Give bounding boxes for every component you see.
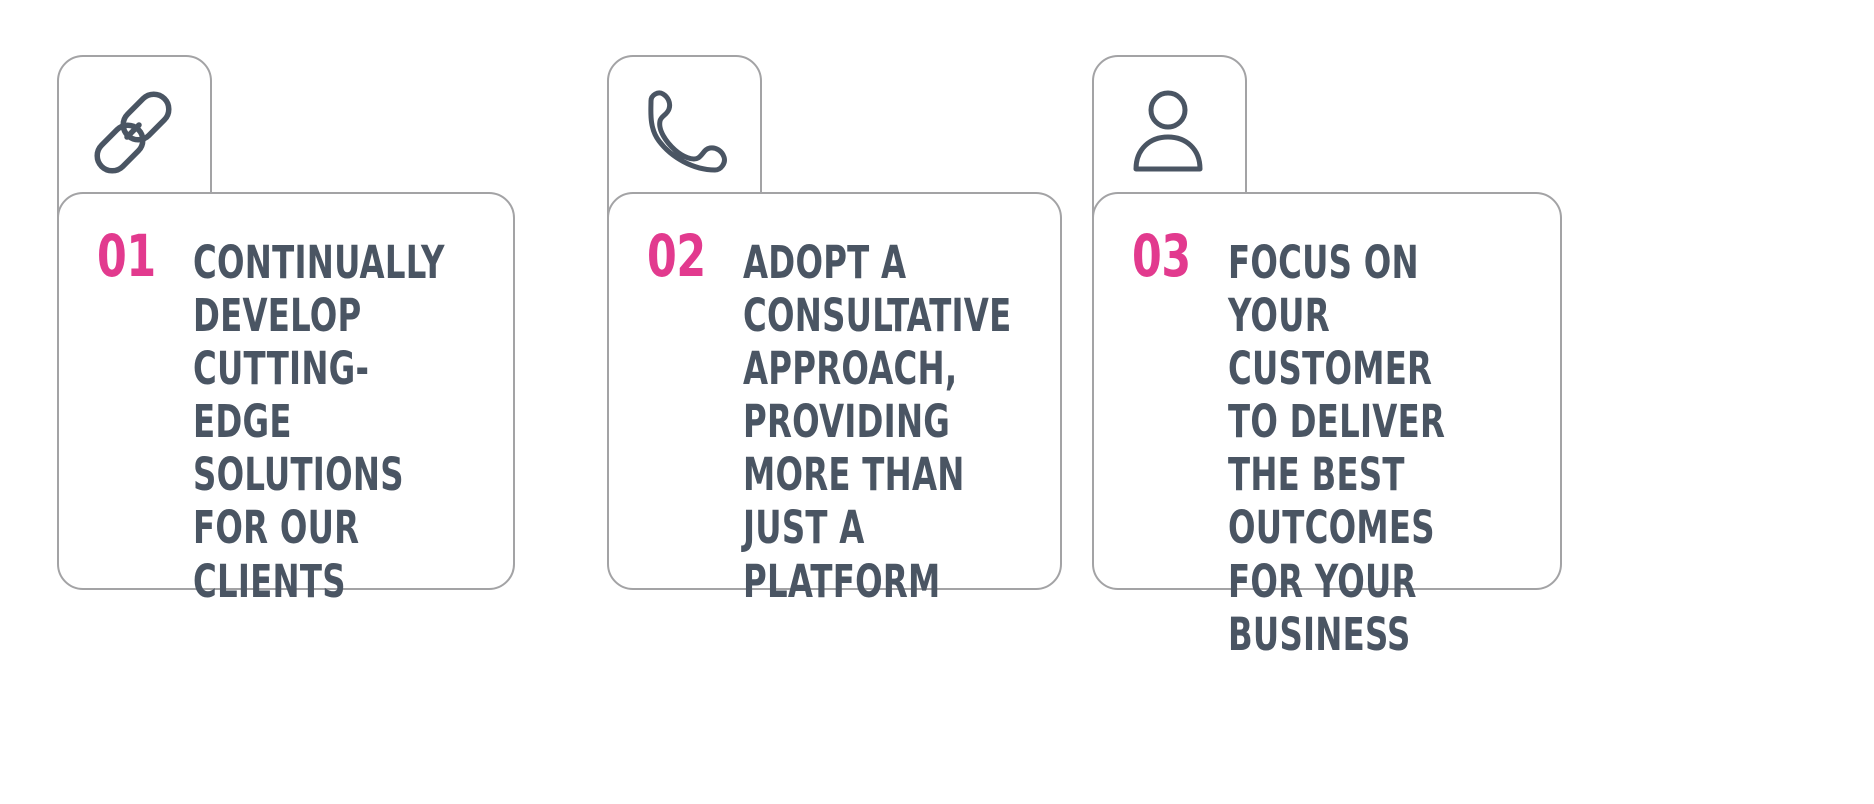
step-headline-1: Continually develop cutting-edge solutio… <box>193 236 445 608</box>
phone-handset-icon <box>633 85 733 180</box>
card-group-1: 01 Continually develop cutting-edge solu… <box>0 0 560 804</box>
step-number-2: 02 <box>647 232 711 281</box>
card-content-row: 02 Adopt a consultative approach, provid… <box>647 230 1030 608</box>
step-number-1: 01 <box>97 232 161 281</box>
step-headline-3: Focus on your customer to deliver the be… <box>1228 236 1470 661</box>
three-step-infographic: 01 Continually develop cutting-edge solu… <box>0 0 1874 804</box>
step-card-3[interactable]: 03 Focus on your customer to deliver the… <box>1092 192 1562 590</box>
link-chain-icon <box>83 85 183 180</box>
person-user-icon <box>1118 85 1218 180</box>
step-card-2[interactable]: 02 Adopt a consultative approach, provid… <box>607 192 1062 590</box>
step-number-3: 03 <box>1132 232 1196 281</box>
step-card-1[interactable]: 01 Continually develop cutting-edge solu… <box>57 192 515 590</box>
card-group-2: 02 Adopt a consultative approach, provid… <box>550 0 1110 804</box>
step-headline-2: Adopt a consultative approach, providing… <box>743 236 1011 608</box>
card-content-row: 03 Focus on your customer to deliver the… <box>1132 230 1530 661</box>
card-group-3: 03 Focus on your customer to deliver the… <box>1035 0 1595 804</box>
card-content-row: 01 Continually develop cutting-edge solu… <box>97 230 483 608</box>
